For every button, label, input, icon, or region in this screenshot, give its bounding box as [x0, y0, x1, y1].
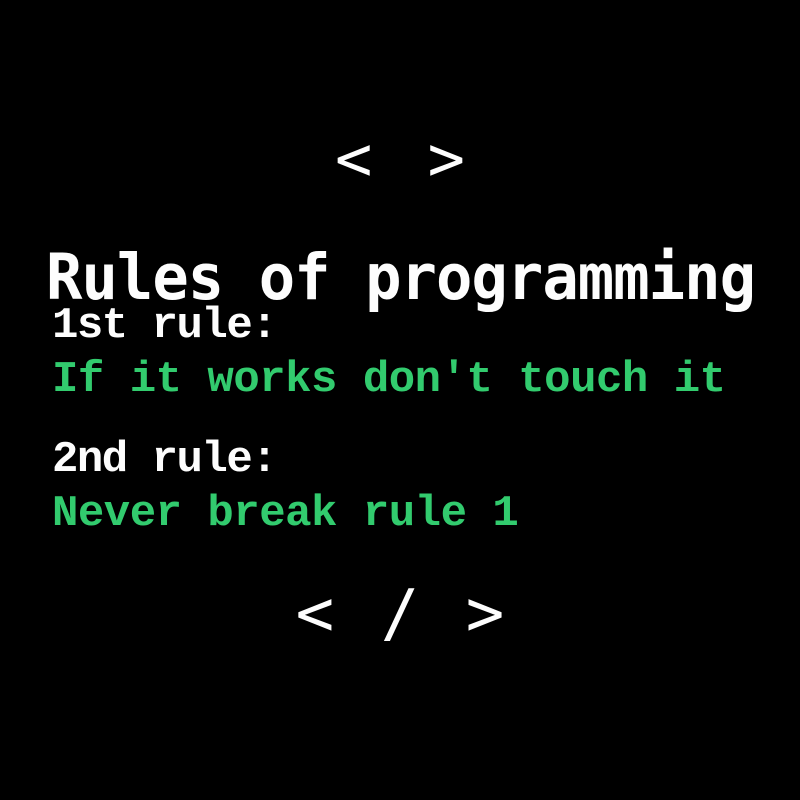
code-open-tag-icon: < >: [0, 128, 800, 190]
list-item: 1st rule: If it works don't touch it: [52, 300, 772, 408]
rule-text-2: Never break rule 1: [52, 486, 772, 542]
poster-canvas: < > Rules of programming 1st rule: If it…: [0, 0, 800, 800]
rule-label-1: 1st rule:: [52, 300, 772, 352]
code-close-tag-icon: < / >: [0, 582, 800, 646]
list-item: 2nd rule: Never break rule 1: [52, 434, 772, 542]
rules-list: 1st rule: If it works don't touch it 2nd…: [52, 300, 772, 542]
rule-label-2: 2nd rule:: [52, 434, 772, 486]
rule-text-1: If it works don't touch it: [52, 352, 772, 408]
